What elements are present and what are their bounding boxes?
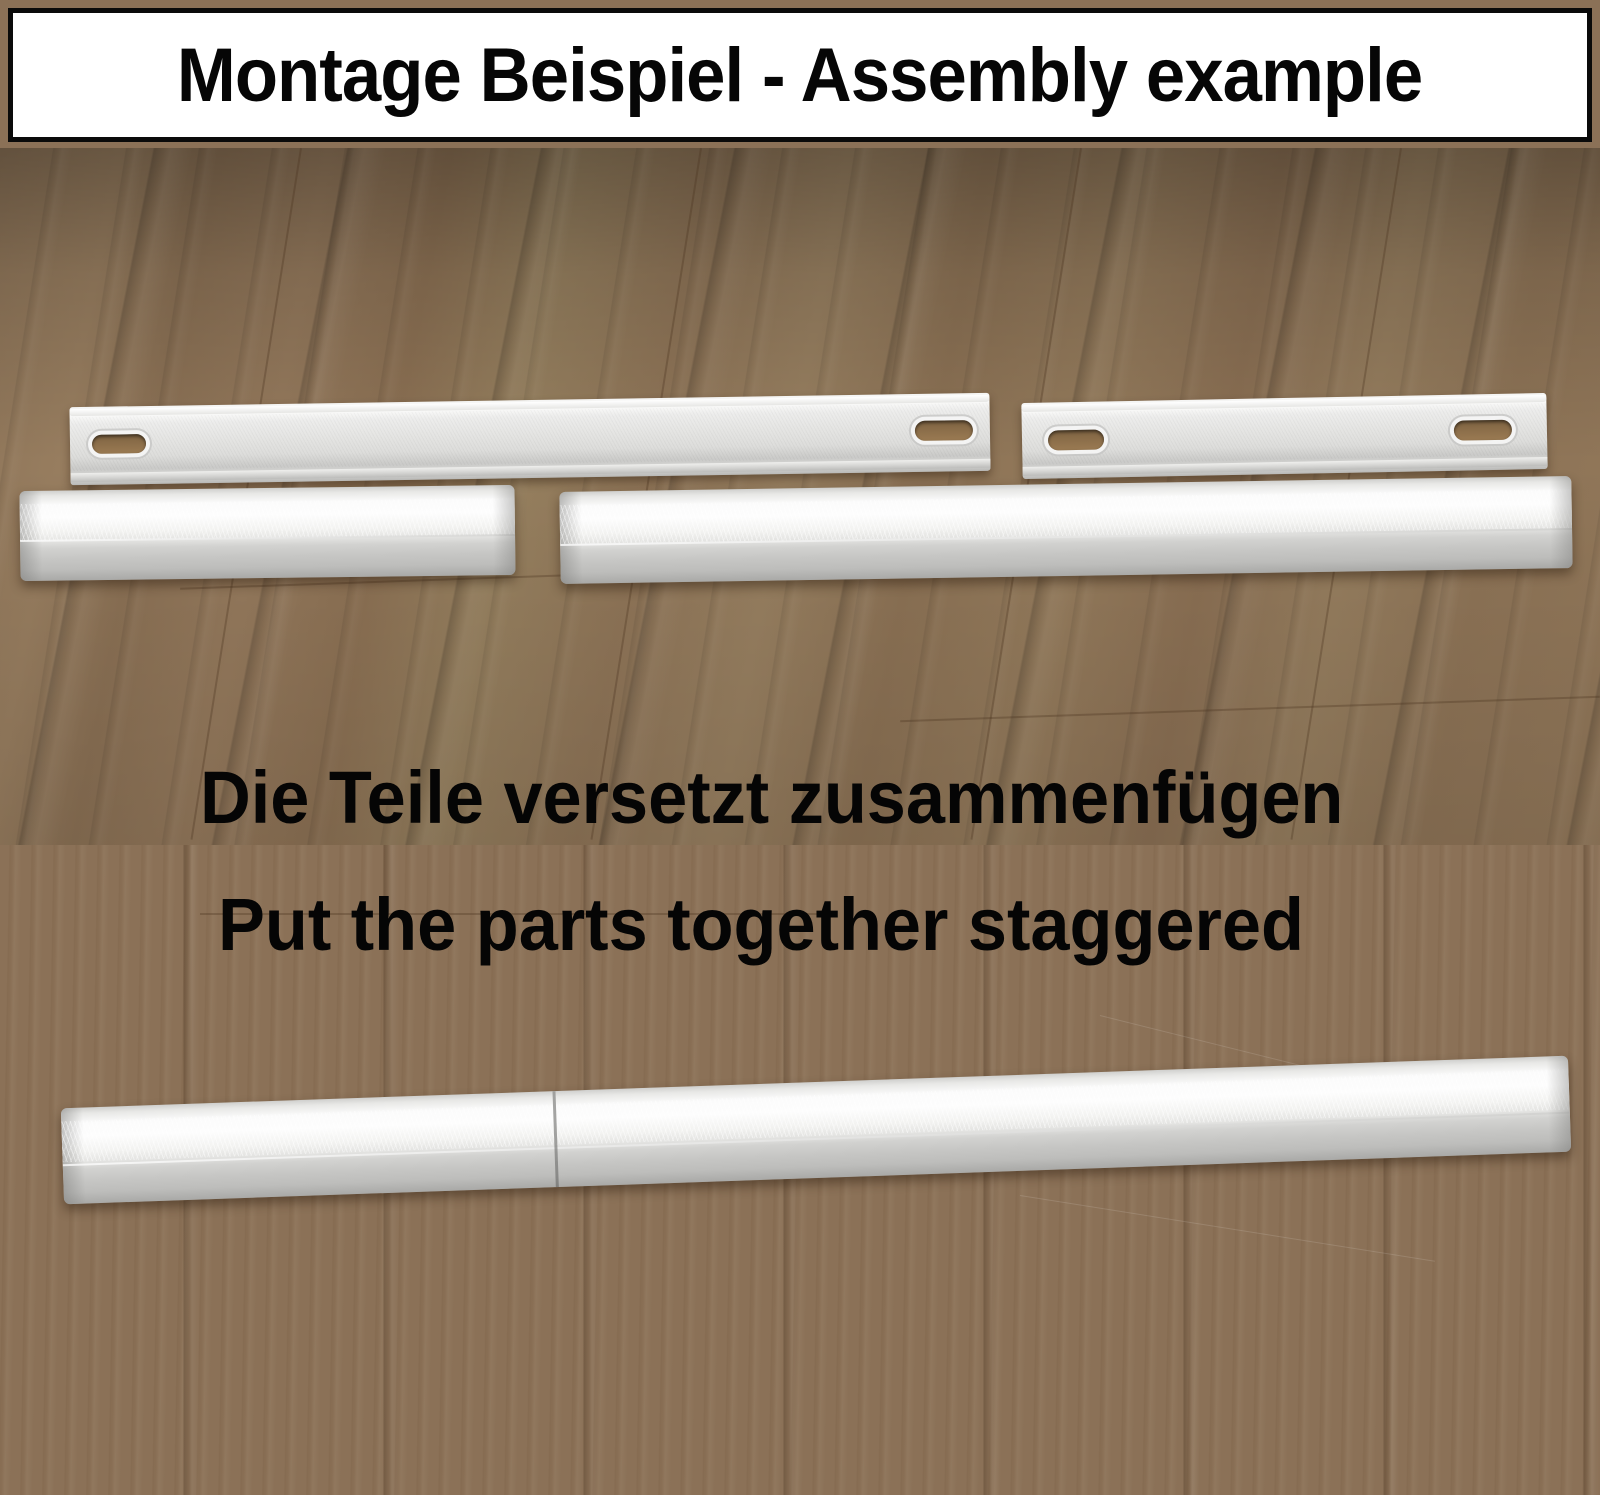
mounting-rail-right (1021, 393, 1547, 479)
rail-slot-hole (1454, 420, 1512, 441)
cover-strip-long-right (559, 476, 1572, 584)
page-title: Montage Beispiel - Assembly example (177, 32, 1422, 119)
rail-slot-hole (915, 420, 973, 441)
mounting-rail-left (69, 393, 990, 485)
caption-german: Die Teile versetzt zusammenfügen (200, 755, 1343, 840)
screenshot-root: Die Teile versetzt zusammenfügen Put the… (0, 0, 1600, 1495)
title-banner: Montage Beispiel - Assembly example (8, 8, 1592, 142)
rail-slot-hole (1048, 429, 1104, 450)
cover-bevel-right (492, 485, 515, 575)
cover-bevel-right (1549, 476, 1572, 568)
caption-english: Put the parts together staggered (218, 882, 1304, 967)
cover-strip-short-left (19, 485, 515, 581)
rail-slot-hole (92, 434, 146, 454)
cover-bevel-right (1546, 1056, 1571, 1153)
